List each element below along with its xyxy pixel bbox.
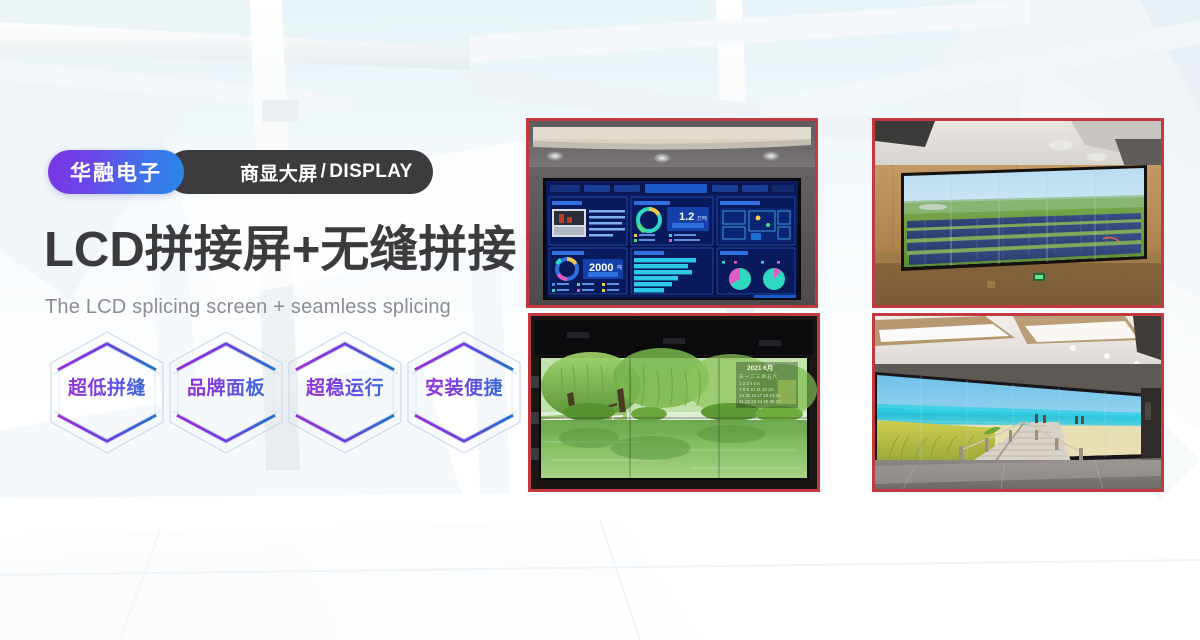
feature-label-2: 品牌面板	[167, 373, 285, 400]
svg-text:万吨: 万吨	[697, 215, 707, 222]
feature-label-3: 超稳运行	[286, 373, 404, 400]
feature-label-1: 超低拼缝	[48, 373, 166, 400]
photo-willow-pond-video-wall[interactable]: 2021 6月 日 一 二 三 四 五 六 1 2 3 4 5 6 7 8 9 …	[528, 313, 820, 492]
feature-hexagon-2: 品牌面板	[167, 330, 285, 455]
photo-dashboard-video-wall[interactable]: 1.2 万吨	[526, 118, 818, 308]
svg-text:日 一 二 三 四 五 六: 日 一 二 三 四 五 六	[739, 373, 778, 380]
svg-text:21 22 23 24 25 26 27: 21 22 23 24 25 26 27	[739, 399, 781, 404]
photo-solar-farm-video-wall[interactable]: Wide LCD splicing wall in a wood panelle…	[872, 118, 1164, 308]
svg-text:2021 6月: 2021 6月	[747, 364, 773, 372]
feature-hexagon-1: 超低拼缝	[48, 330, 166, 455]
feature-hexagon-4: 安装便捷	[405, 330, 523, 455]
svg-text:14 15 16 17 18 19 20: 14 15 16 17 18 19 20	[739, 393, 781, 398]
pill-separator: /	[318, 161, 330, 183]
photo-beach-boardwalk-video-wall[interactable]: Long curved LCD splicing wall in a lobby…	[872, 313, 1164, 492]
brand-pill-group: 商显大屏 / DISPLAY 华融电子	[48, 150, 184, 194]
feature-hexagon-row: 超低拼缝 品牌面板	[48, 330, 518, 455]
promo-banner: 商显大屏 / DISPLAY 华融电子 LCD拼接屏+无缝拼接 The LCD …	[0, 0, 1200, 640]
svg-text:7 8 9 10 11 12 13: 7 8 9 10 11 12 13	[739, 387, 773, 392]
category-pill: 商显大屏 / DISPLAY	[166, 150, 433, 194]
svg-text:吨: 吨	[617, 264, 622, 271]
feature-hexagon-3: 超稳运行	[286, 330, 404, 455]
feature-label-4: 安装便捷	[405, 373, 523, 400]
left-content-column: 商显大屏 / DISPLAY 华融电子 LCD拼接屏+无缝拼接 The LCD …	[0, 0, 520, 640]
category-label-en: DISPLAY	[329, 161, 412, 183]
page-title: LCD拼接屏+无缝拼接	[44, 226, 516, 275]
brand-name-label: 华融电子	[70, 157, 162, 187]
category-label-cn: 商显大屏	[240, 159, 318, 186]
product-photo-grid: 1.2 万吨	[526, 118, 1166, 492]
page-subtitle: The LCD splicing screen + seamless splic…	[45, 296, 451, 319]
svg-text:1.2: 1.2	[679, 211, 694, 223]
brand-name-pill: 华融电子	[48, 150, 184, 194]
svg-text:1 2 3 4 5 6: 1 2 3 4 5 6	[739, 381, 760, 386]
